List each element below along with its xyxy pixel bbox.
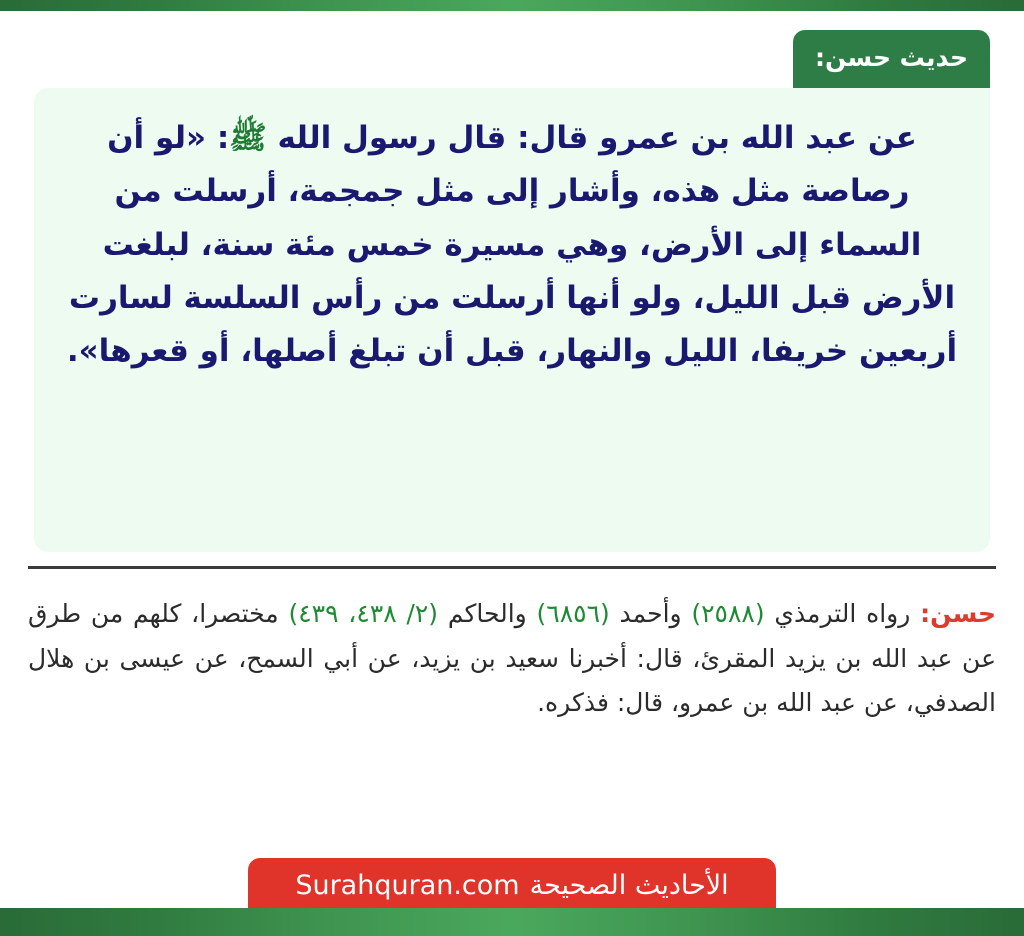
brand-arabic-label: الأحاديث الصحيحة: [530, 870, 729, 901]
bottom-decorative-bar: [0, 908, 1024, 936]
top-decorative-bar: [0, 0, 1024, 11]
reference-tirmidhi: (٢٥٨٨): [691, 599, 764, 628]
reference-ahmad: (٦٨٥٦): [537, 599, 610, 628]
hadith-card: عن عبد الله بن عمرو قال: قال رسول الله ﷺ…: [34, 88, 990, 552]
hadith-grade-badge-label: حديث حسن:: [815, 43, 968, 72]
reference-hakim: (٢/ ٤٣٨، ٤٣٩): [288, 599, 438, 628]
takhrij-block: حسن: رواه الترمذي (٢٥٨٨) وأحمد (٦٨٥٦) وا…: [28, 592, 996, 726]
hadith-body-text: عن عبد الله بن عمرو قال: قال رسول الله ﷺ…: [64, 112, 960, 379]
takhrij-segment-1: رواه الترمذي: [765, 599, 920, 628]
brand-site-url: Surahquran.com: [295, 870, 519, 901]
takhrij-grade-label: حسن:: [920, 599, 996, 628]
section-divider: [28, 566, 996, 569]
takhrij-segment-2: وأحمد: [610, 599, 692, 628]
takhrij-segment-3: والحاكم: [438, 599, 536, 628]
salla-allahu-alayhi-wa-sallam-icon: ﷺ: [229, 120, 266, 156]
hadith-grade-badge: حديث حسن:: [793, 30, 990, 88]
